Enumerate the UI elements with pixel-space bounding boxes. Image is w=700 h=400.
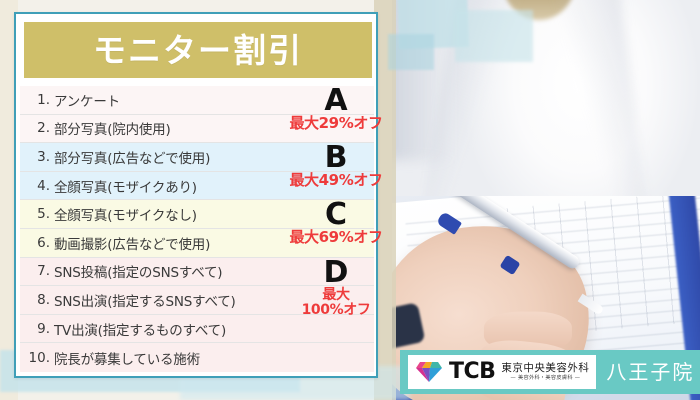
tcb-wordmark: TCB: [449, 361, 495, 383]
list-item-label: SNS投稿(指定のSNSすべて): [54, 261, 222, 281]
list-item: 5. 全顔写真(モザイクなし): [20, 200, 374, 229]
list-item-label: 部分写真(広告などで使用): [54, 147, 210, 167]
list-item: 2. 部分写真(院内使用): [20, 115, 374, 144]
list-item-number: 8.: [20, 292, 54, 308]
list-item: 8. SNS出演(指定するSNSすべて): [20, 286, 374, 315]
list-item: 3. 部分写真(広告などで使用): [20, 143, 374, 172]
list-item-number: 10.: [20, 350, 54, 366]
list-item-label: 全顔写真(モザイクあり): [54, 176, 197, 196]
list-item: 7. SNS投稿(指定のSNSすべて): [20, 258, 374, 287]
branch-name: 八王子院: [606, 362, 694, 382]
list-item-number: 6.: [20, 235, 54, 251]
list-item-label: 全顔写真(モザイクなし): [54, 204, 197, 224]
list-item-label: SNS出演(指定するSNSすべて): [54, 290, 236, 310]
list-item-number: 7.: [20, 263, 54, 279]
tcb-japanese-main: 東京中央美容外科: [501, 363, 589, 374]
list-item-label: 部分写真(院内使用): [54, 118, 171, 138]
list-item-number: 9.: [20, 321, 54, 337]
list-item: 4. 全顔写真(モザイクあり): [20, 172, 374, 201]
list-item-number: 2.: [20, 120, 54, 136]
list-item-number: 3.: [20, 149, 54, 165]
list-item-number: 5.: [20, 206, 54, 222]
list-item-label: TV出演(指定するものすべて): [54, 319, 226, 339]
list-item-label: 動画撮影(広告などで使用): [54, 233, 210, 253]
list-item-label: アンケート: [54, 90, 120, 110]
promo-banner: モニター割引 1. アンケート 2. 部分写真(院内使用) 3. 部分写真(広告…: [0, 0, 700, 400]
list-item-number: 4.: [20, 178, 54, 194]
list-item: 10. 院長が募集している施術: [20, 343, 374, 372]
list-item-number: 1.: [20, 92, 54, 108]
tcb-japanese-sub: — 美容外科・美容皮膚科 —: [511, 376, 581, 381]
card-title-banner: モニター割引: [24, 22, 372, 78]
clinic-photo: [392, 0, 700, 400]
tcb-logo: TCB 東京中央美容外科 — 美容外科・美容皮膚科 —: [408, 355, 596, 389]
list-item-label: 院長が募集している施術: [54, 348, 200, 368]
clinic-logo-band: TCB 東京中央美容外科 — 美容外科・美容皮膚科 — 八王子院: [400, 350, 700, 394]
diamond-icon: [415, 360, 443, 384]
discount-condition-list: 1. アンケート 2. 部分写真(院内使用) 3. 部分写真(広告などで使用) …: [20, 86, 374, 372]
page-title: モニター割引: [93, 34, 303, 67]
list-item: 1. アンケート: [20, 86, 374, 115]
tcb-japanese-name: 東京中央美容外科 — 美容外科・美容皮膚科 —: [501, 363, 589, 381]
monitor-discount-card: モニター割引 1. アンケート 2. 部分写真(院内使用) 3. 部分写真(広告…: [14, 12, 378, 378]
list-item: 6. 動画撮影(広告などで使用): [20, 229, 374, 258]
list-item: 9. TV出演(指定するものすべて): [20, 315, 374, 344]
